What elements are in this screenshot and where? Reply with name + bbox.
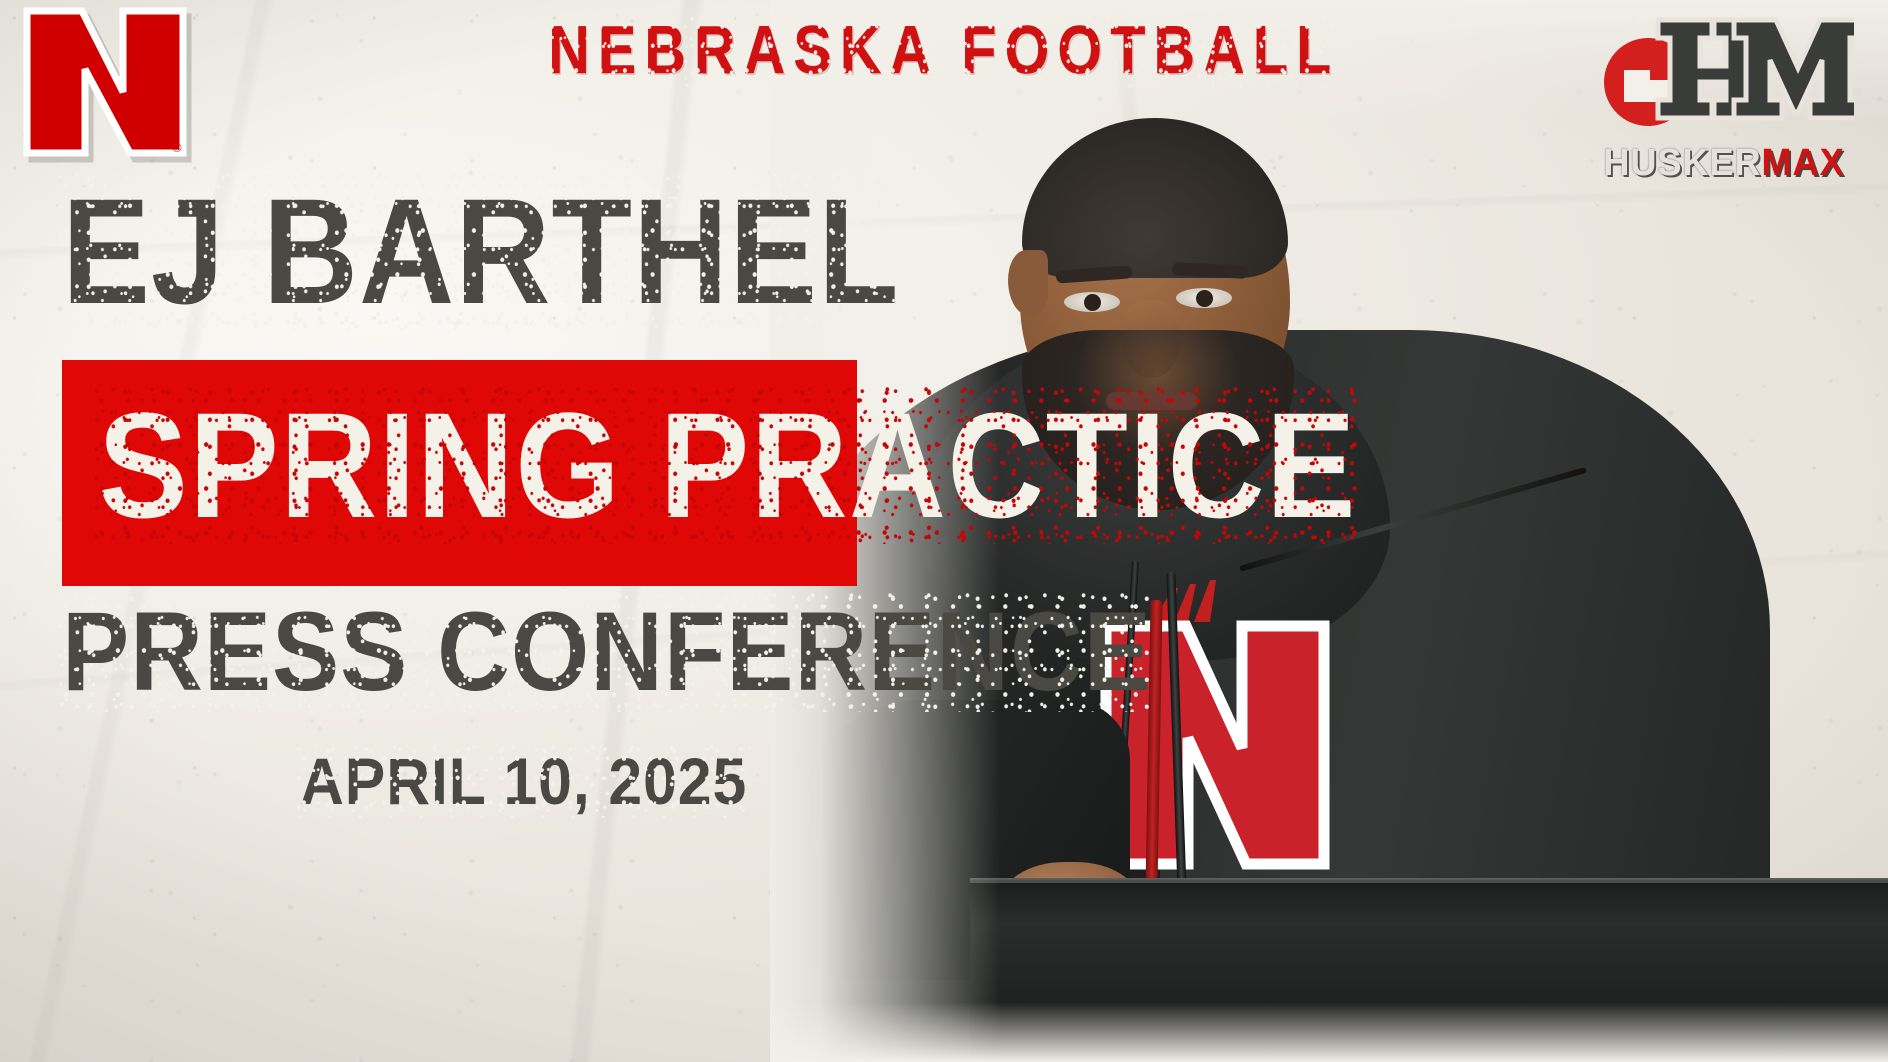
banner-text: SPRING PRACTICE (98, 390, 1357, 540)
huskermax-word-accent: MAX (1762, 142, 1845, 184)
banner-heading: SPRING PRACTICE (98, 390, 1357, 540)
speaker-hair (1022, 118, 1288, 278)
speaker-eye-right (1176, 288, 1232, 308)
huskermax-logo: HUSKERMAX (1594, 4, 1854, 204)
speaker-pupil-left (1084, 294, 1101, 311)
title-card-graphic: ® NEBRASKA FOOTBALL HUSKERMAX EJ BARTHEL (0, 0, 1888, 1062)
huskermax-wordmark: HUSKERMAX (1601, 144, 1848, 182)
huskermax-hm-monogram-icon (1594, 4, 1854, 152)
event-date: APRIL 10, 2025 (300, 748, 747, 814)
speaker-name-heading: EJ BARTHEL (62, 176, 900, 326)
huskermax-word-primary: HUSKER (1603, 142, 1761, 184)
speaker-pupil-right (1196, 290, 1213, 307)
speaker-eye-left (1064, 292, 1120, 312)
event-type-heading: PRESS CONFERENCE (62, 596, 1152, 708)
nebraska-n-logo: ® (22, 6, 188, 158)
svg-text:®: ® (172, 140, 182, 155)
speaker-name-text: EJ BARTHEL (62, 176, 900, 326)
event-date-text: APRIL 10, 2025 (300, 748, 747, 814)
podium (970, 880, 1888, 1062)
event-type-text: PRESS CONFERENCE (62, 596, 1152, 708)
adidas-logo (1152, 578, 1222, 624)
speaker-ear (1008, 250, 1048, 316)
